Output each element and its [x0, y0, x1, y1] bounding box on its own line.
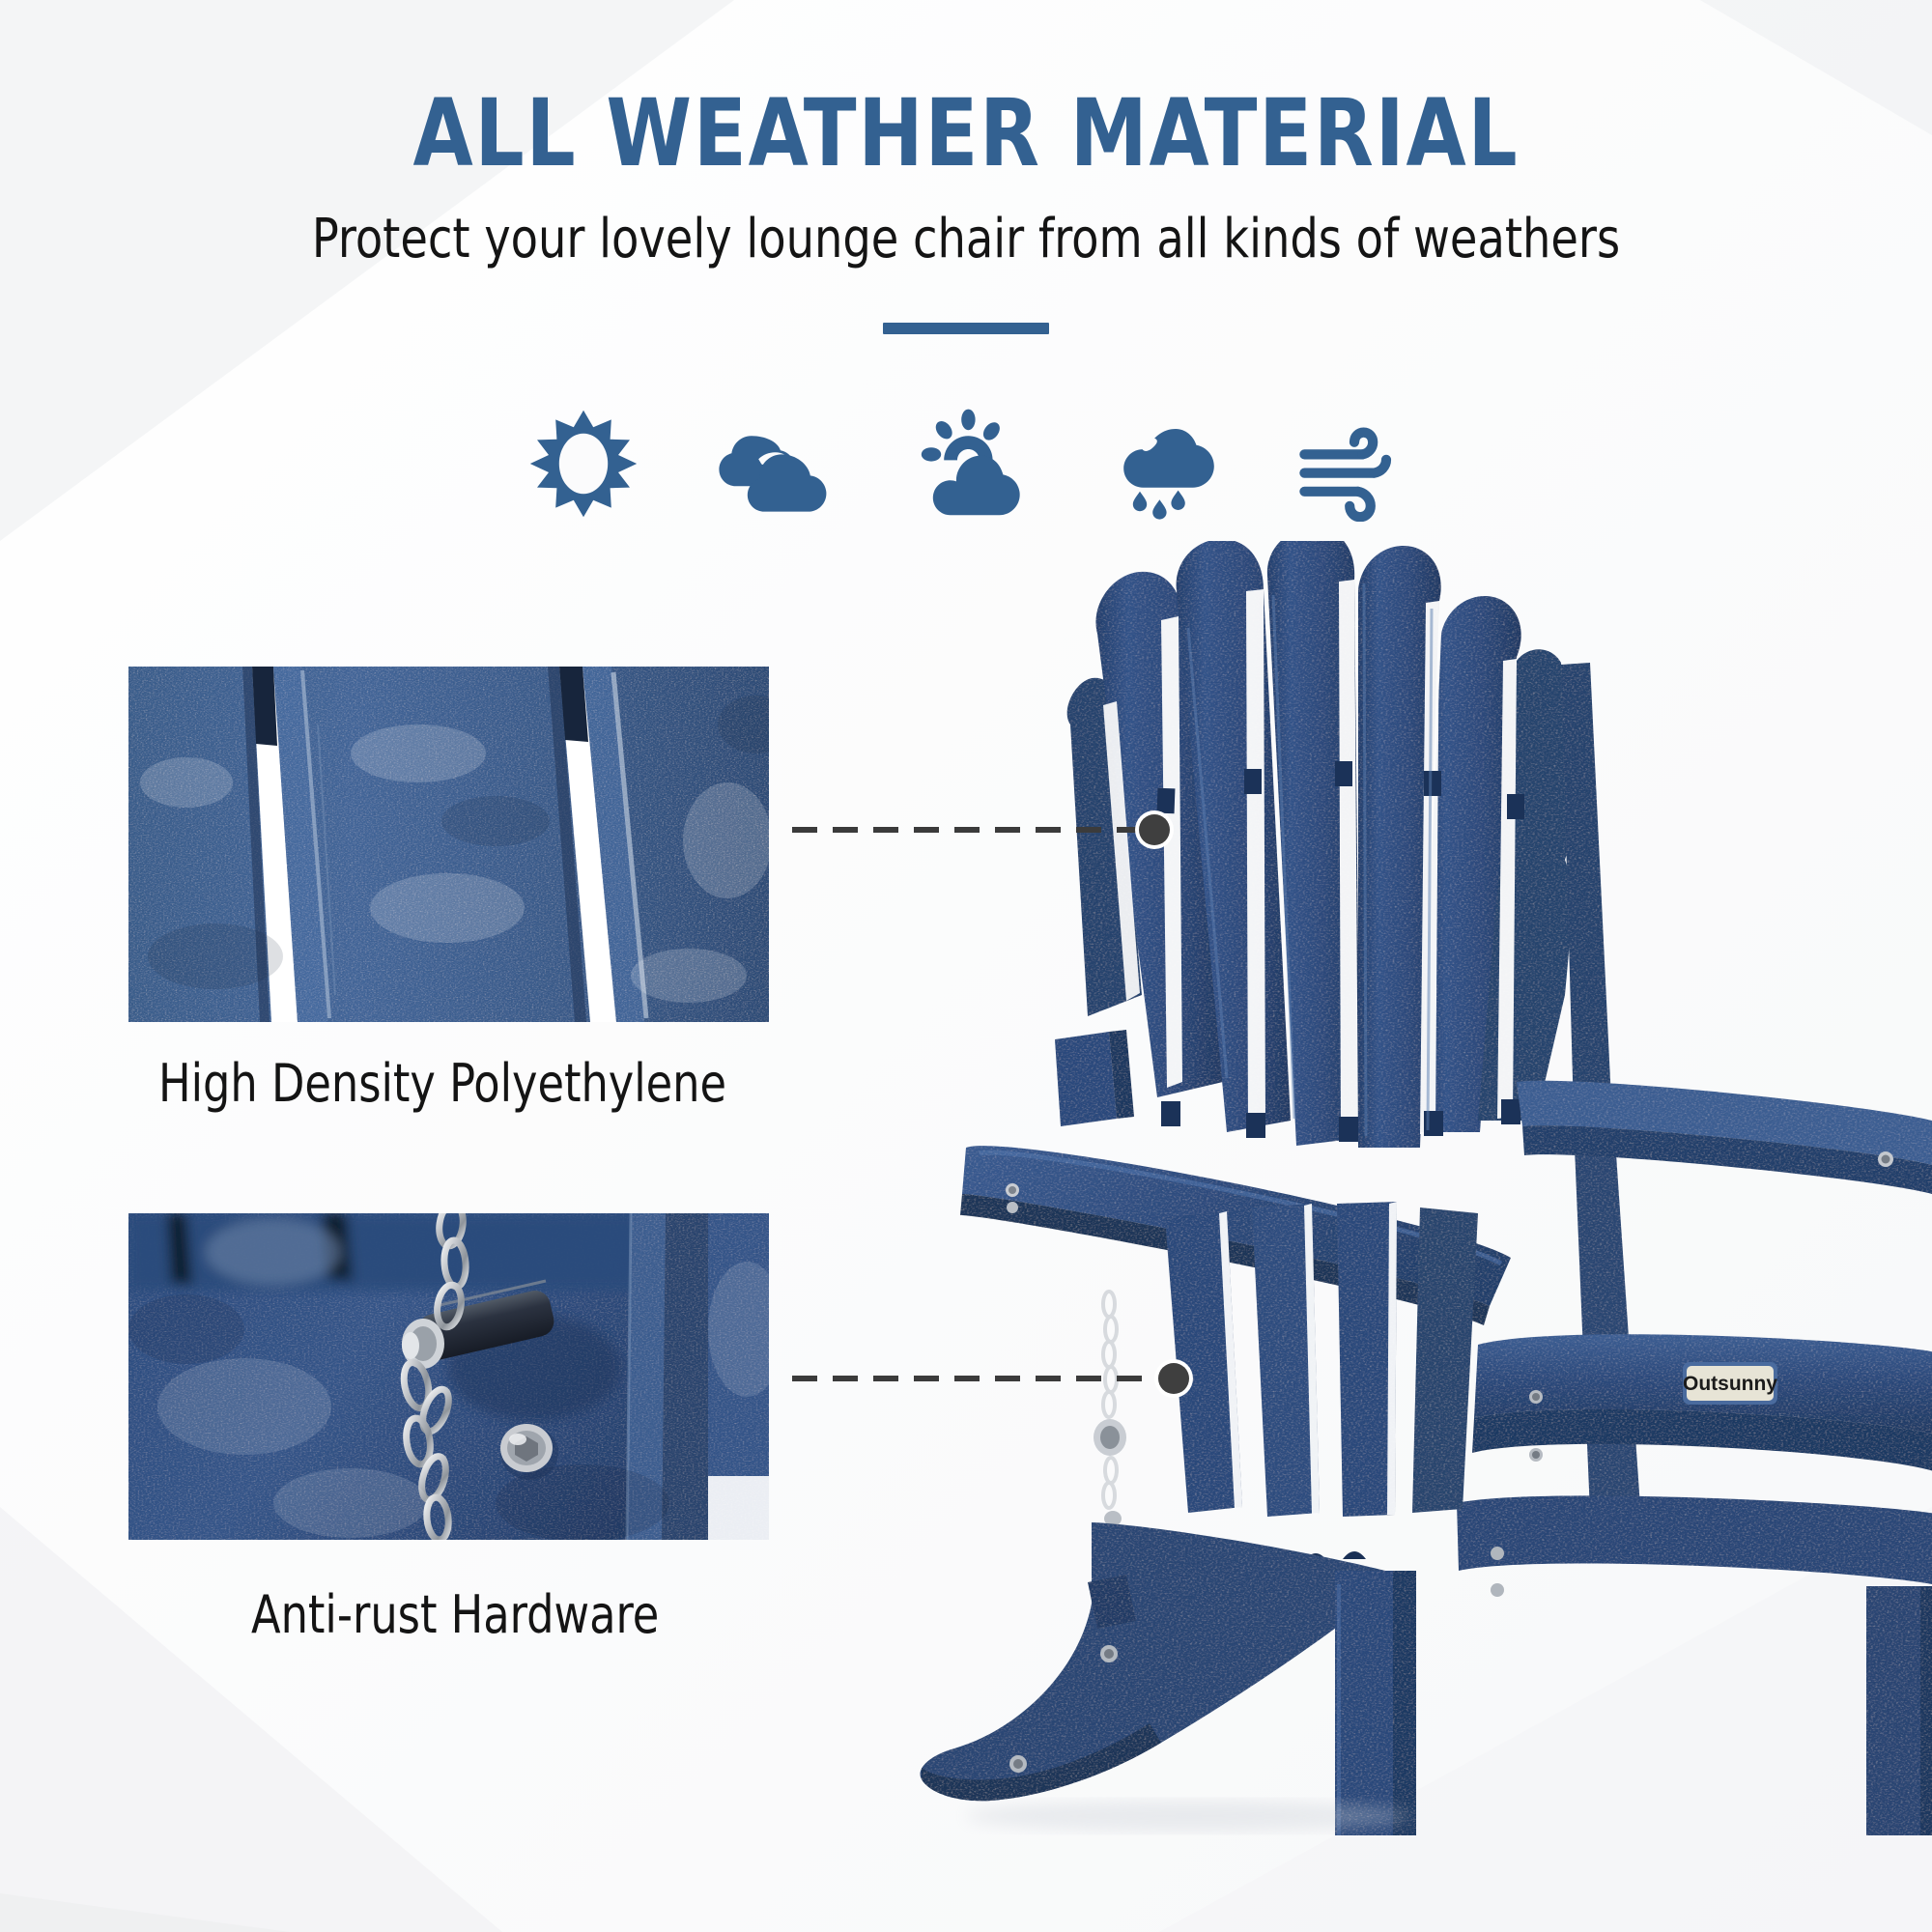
callout-dot-hardware: [1158, 1363, 1189, 1394]
callout-connector-hardware: [792, 1356, 1198, 1401]
rain-cloud-icon: [1099, 406, 1215, 522]
adirondack-chair-photo: Outsunny: [898, 541, 1932, 1835]
hdpe-caption: High Density Polyethylene: [158, 1053, 726, 1114]
hardware-caption: Anti-rust Hardware: [251, 1584, 659, 1645]
page-title: ALL WEATHER MATERIAL: [68, 85, 1864, 183]
header: ALL WEATHER MATERIAL Protect your lovely…: [0, 0, 1932, 334]
title-divider: [883, 323, 1049, 334]
weather-icon-row: [0, 406, 1932, 522]
chair-chain-hardware: [1094, 1292, 1126, 1526]
callout-connector-hdpe: [792, 808, 1179, 852]
brand-plate: Outsunny: [1683, 1362, 1777, 1405]
partly-cloudy-icon: [908, 406, 1024, 522]
cloudy-icon: [717, 406, 833, 522]
page-subtitle: Protect your lovely lounge chair from al…: [77, 208, 1855, 270]
sun-icon: [526, 406, 641, 522]
anti-rust-hardware-photo: [128, 1213, 769, 1540]
callout-dot-hdpe: [1139, 814, 1170, 845]
wind-icon: [1291, 406, 1406, 522]
hdpe-texture-photo: [128, 667, 769, 1022]
svg-text:Outsunny: Outsunny: [1683, 1373, 1777, 1395]
